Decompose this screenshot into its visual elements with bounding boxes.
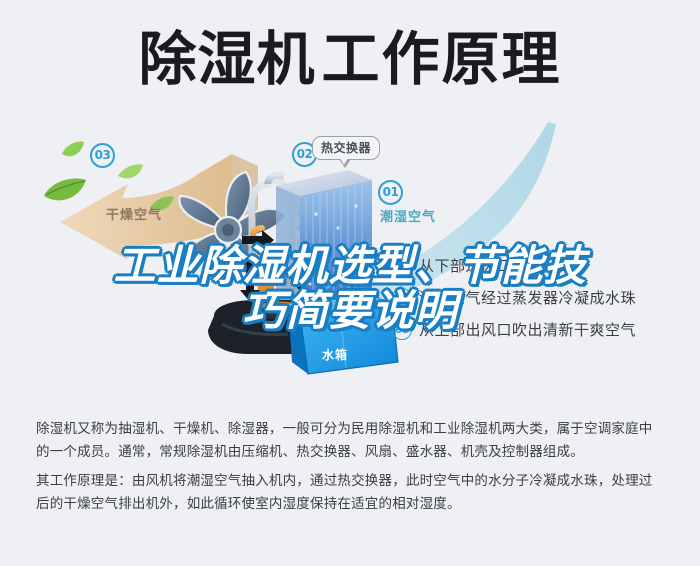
heat-exchanger-block: [276, 170, 372, 310]
page-title-part-a: 除湿机: [138, 25, 315, 93]
step-list: 01从下部进风口中进风口 02潮湿空气经过蒸发器冷凝成水珠 03从上部出风口吹出…: [392, 255, 692, 351]
label-humid-air: 潮湿空气: [380, 206, 436, 225]
page-title: 除湿机工作原理: [0, 24, 700, 94]
step-badge: 01: [392, 256, 412, 276]
label-water-tank: 水箱: [322, 346, 348, 363]
body-paragraph-1-text: 除湿机又称为抽湿机、干燥机、除湿器，一般可分为民用除湿机和工业除湿机两大类，属于…: [36, 418, 666, 464]
poster-canvas: 除湿机工作原理: [0, 0, 700, 566]
list-item: 03从上部出风口吹出清新干爽空气: [392, 319, 692, 351]
step-text: 潮湿空气经过蒸发器冷凝成水珠: [419, 289, 636, 307]
step-text: 从上部出风口吹出清新干爽空气: [419, 321, 636, 339]
step-text: 从下部进风口中进风口: [419, 257, 574, 275]
callout-heat-exchanger: 热交换器: [312, 136, 380, 160]
list-item: 01从下部进风口中进风口: [392, 255, 692, 287]
diagram-badge-03: 03: [90, 143, 115, 168]
body-paragraph-2: 其工作原理是：由风机将潮湿空气抽入机内，通过热交换器，此时空气中的水分子冷凝成水…: [36, 470, 666, 516]
page-title-part-b: 工作原理: [322, 25, 562, 93]
body-paragraph-1: 除湿机又称为抽湿机、干燥机、除湿器，一般可分为民用除湿机和工业除湿机两大类，属于…: [36, 418, 666, 464]
list-item: 02潮湿空气经过蒸发器冷凝成水珠: [392, 287, 692, 319]
body-paragraph-2-text: 其工作原理是：由风机将潮湿空气抽入机内，通过热交换器，此时空气中的水分子冷凝成水…: [36, 470, 666, 516]
step-badge: 02: [392, 288, 412, 308]
step-badge: 03: [392, 320, 412, 340]
label-dry-air: 干燥空气: [106, 204, 162, 223]
diagram-badge-01: 01: [378, 180, 403, 205]
